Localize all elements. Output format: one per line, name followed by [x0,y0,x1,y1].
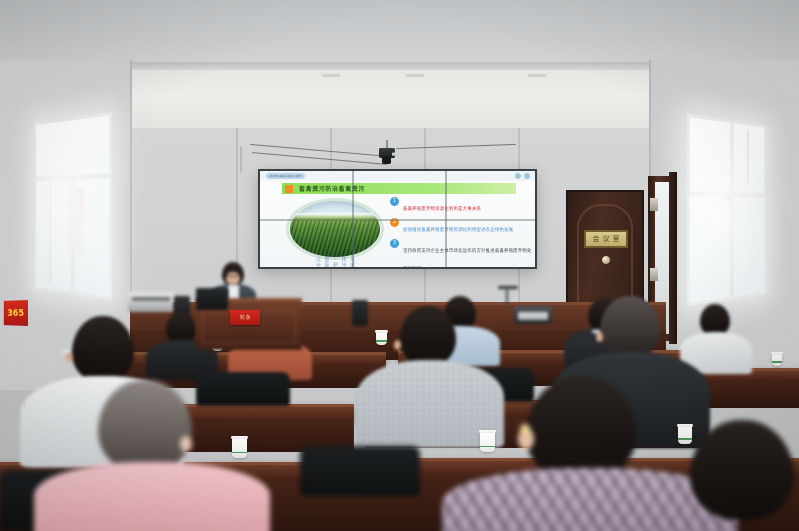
chair-back [300,446,420,496]
ceiling [0,0,799,68]
door-plaque: 会 议 室 [584,230,628,248]
office-printer[interactable] [128,292,174,312]
plaque-char-3: 室 [613,234,620,244]
attendee-ear [180,436,192,452]
bullet-text: 畜禽养殖废弃物资源化利用是大事关系 [403,207,481,212]
plaque-char-2: 议 [603,234,610,244]
paper-cup[interactable] [678,424,692,444]
conference-room-photo: 会 议 室 www.ppt-bg.com 畜禽粪污防治畜禽粪污 [0,0,799,531]
attendee-ear [66,352,73,362]
earring-icon [520,424,530,434]
attendee-shoulders [34,462,270,531]
door-knob[interactable] [602,256,610,264]
slide-title-bar: 畜禽粪污防治畜禽粪污 [282,183,516,194]
soffit-seam [322,74,340,77]
slide-title-badge-icon [285,185,293,193]
attendee-head [690,420,794,520]
slide-corner-dots [515,173,530,179]
slide-bullet-list: 1 畜禽养殖废弃物资源化利用是大事关系 2 加快推进畜禽养殖废弃物资源化利用促进… [390,197,532,267]
paper-cup[interactable] [480,430,495,452]
video-wall[interactable]: www.ppt-bg.com 畜禽粪污防治畜禽粪污 注 重 一 枝 花 全 靠 … [258,169,537,269]
camera-lens-icon [382,157,391,164]
wall-sign-365: 365 [4,300,28,326]
attendee-head [526,376,636,482]
conduit-pipe [240,146,242,172]
plaque-char-1: 会 [593,234,600,244]
door-hinge [650,268,658,281]
soffit-seam [406,74,424,77]
bullet-number: 3 [390,239,399,248]
bullet-text: 坚持政府支持企业主体市场化运作的方针推进畜禽养殖废弃物处理与利用 [403,249,532,267]
attendee-ear [596,332,603,342]
presenter-laptop[interactable] [196,288,228,310]
presenter-glasses-icon [226,275,240,277]
slide-bullet: 3 坚持政府支持企业主体市场化运作的方针推进畜禽养殖废弃物处理与利用 [390,239,532,267]
soffit-seam [528,74,546,77]
nameplate-char-1: 刘 [239,314,244,321]
paper-cup[interactable] [376,330,387,345]
paper-cup[interactable] [232,436,247,458]
slide-photo-ring [286,198,384,260]
wall-sign-text: 365 [7,308,24,319]
bullet-text: 加快推进畜禽养殖废弃物资源化利用促进农业绿色发展 [403,228,513,233]
presenter-nameplate: 刘 永 [230,310,260,325]
microphone-head-icon [498,286,518,289]
door-hinge [650,198,658,211]
mask-strap [592,330,600,333]
window-left [34,112,112,300]
bullet-number: 1 [390,197,399,206]
gooseneck-microphone [506,288,508,308]
desk-side-right-apron [700,382,799,408]
speaker-right [352,300,368,326]
attendee-head [72,316,134,382]
presentation-slide: www.ppt-bg.com 畜禽粪污防治畜禽粪污 注 重 一 枝 花 全 靠 … [260,171,535,267]
attendee-head [400,306,456,366]
slide-title: 畜禽粪污防治畜禽粪污 [299,184,365,193]
attendee-ear [394,340,401,350]
desktop-amplifier[interactable] [514,306,552,324]
slide-bullet: 1 畜禽养殖废弃物资源化利用是大事关系 [390,197,532,215]
window-right [687,114,766,306]
paper-cup[interactable] [772,352,782,366]
slide-photo-caption: 注 重 一 枝 花 全 靠 肥 当 家 [304,257,368,267]
attendee-head [600,296,660,358]
mask-strap [62,350,70,353]
door-jamb [669,172,677,344]
slide-url-label: www.ppt-bg.com [266,173,305,179]
caption-line-2: 全 靠 肥 当 家 [304,263,368,267]
nameplate-char-2: 永 [246,314,251,321]
attendee-head [98,380,192,472]
